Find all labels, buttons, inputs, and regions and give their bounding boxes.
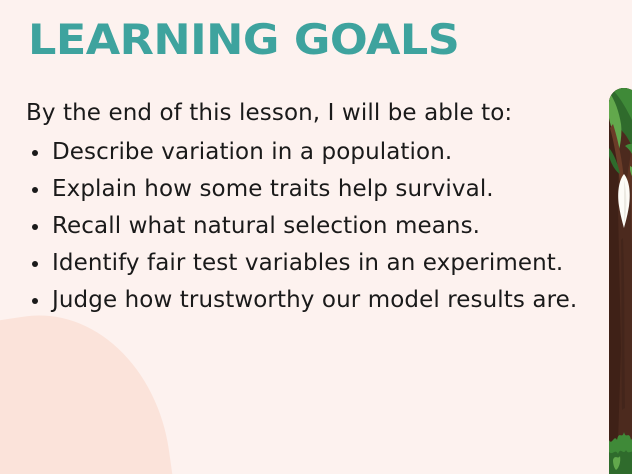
list-item: Describe variation in a population.: [26, 134, 586, 171]
intro-text: By the end of this lesson, I will be abl…: [26, 98, 586, 128]
slide-canvas: Learning Goals By the end of this lesson…: [0, 0, 632, 474]
bullet-dot-icon: [32, 298, 38, 304]
goals-list: Describe variation in a population. Expl…: [26, 134, 586, 319]
learning-goals-content: By the end of this lesson, I will be abl…: [26, 98, 586, 319]
bullet-dot-icon: [32, 261, 38, 267]
bullet-dot-icon: [32, 187, 38, 193]
corner-blob-decoration: [0, 299, 189, 474]
list-item: Judge how trustworthy our model results …: [26, 282, 586, 319]
list-item-label: Describe variation in a population.: [52, 139, 452, 165]
list-item: Explain how some traits help survival.: [26, 171, 586, 208]
list-item: Identify fair test variables in an exper…: [26, 245, 586, 282]
list-item-label: Recall what natural selection means.: [52, 213, 480, 239]
bullet-dot-icon: [32, 150, 38, 156]
tree-illustration-panel: [609, 88, 632, 474]
tree-icon: [609, 88, 632, 474]
list-item-label: Judge how trustworthy our model results …: [52, 287, 577, 313]
list-item-label: Identify fair test variables in an exper…: [52, 250, 563, 276]
bullet-dot-icon: [32, 224, 38, 230]
page-title: Learning Goals: [28, 16, 459, 64]
list-item: Recall what natural selection means.: [26, 208, 586, 245]
list-item-label: Explain how some traits help survival.: [52, 176, 494, 202]
